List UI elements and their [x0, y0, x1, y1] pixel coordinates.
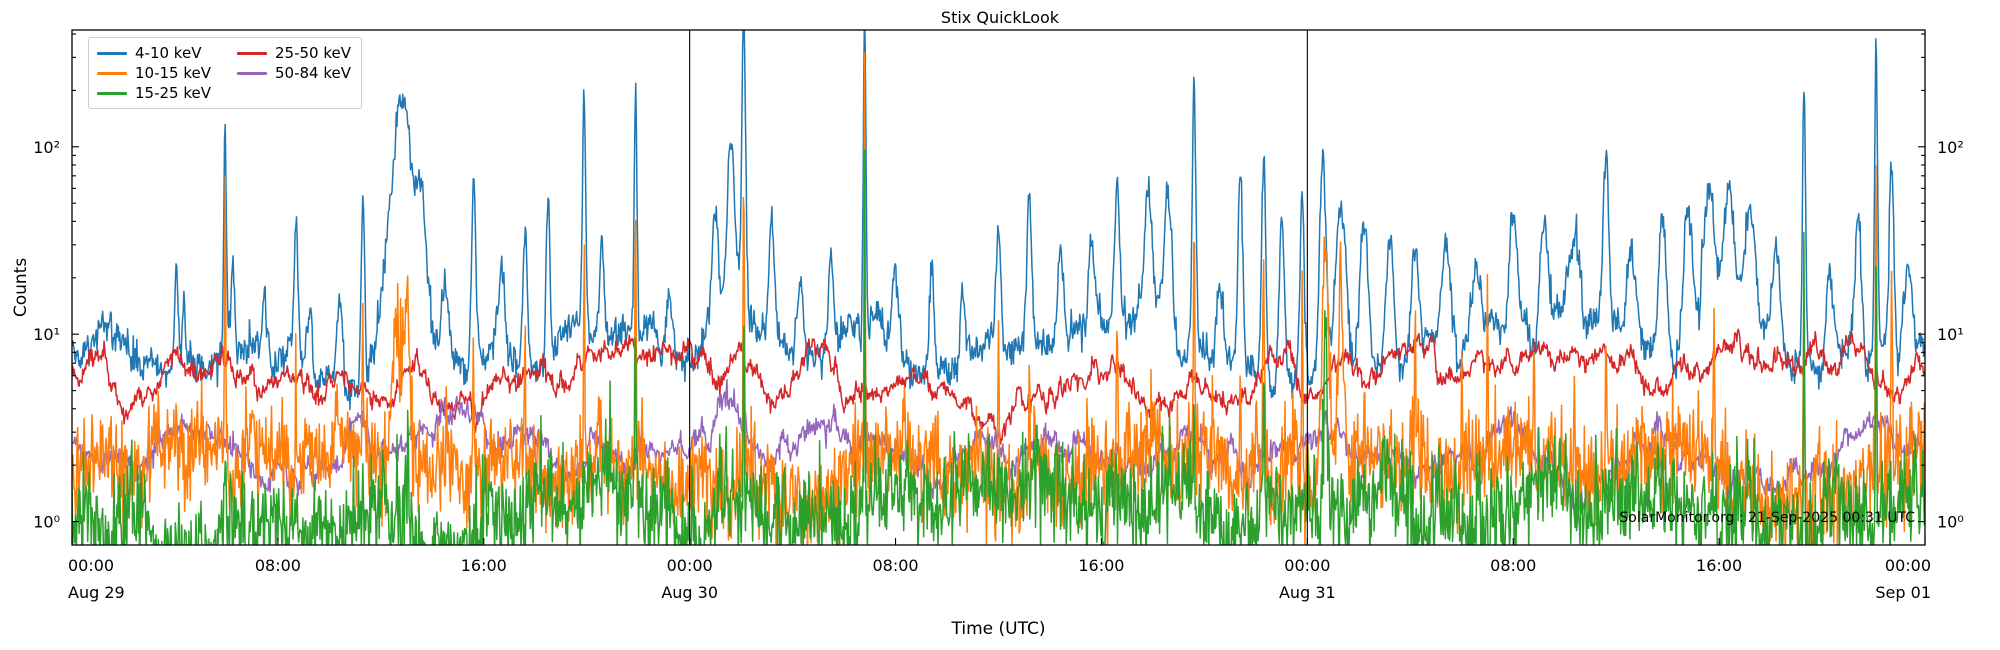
x-axis-group: 00:00Aug 2908:0016:0000:00Aug 3008:0016:…	[68, 538, 1931, 639]
legend-item-15-25-kev[interactable]: 15-25 keV	[97, 84, 211, 102]
legend-swatch-icon	[97, 52, 127, 55]
stix-quicklook-figure: Stix QuickLook 10⁰10⁰10¹10¹10²10²Counts0…	[0, 0, 2000, 650]
legend-item-50-84-kev[interactable]: 50-84 keV	[237, 64, 351, 82]
legend-label: 25-50 keV	[275, 44, 351, 62]
x-tick-label-time: 08:00	[1490, 556, 1536, 575]
legend-swatch-icon	[97, 92, 127, 95]
x-tick-label-date: Aug 31	[1279, 583, 1336, 602]
x-tick-label-time: 08:00	[255, 556, 301, 575]
legend-label: 15-25 keV	[135, 84, 211, 102]
x-tick-label-time: 16:00	[1696, 556, 1742, 575]
y-axis-label: Counts	[11, 258, 31, 317]
y-tick-label-right: 10⁰	[1937, 513, 1964, 532]
legend-label: 4-10 keV	[135, 44, 201, 62]
y-tick-label-left: 10¹	[33, 325, 60, 344]
x-tick-label-date: Sep 01	[1875, 583, 1931, 602]
x-tick-label-time: 08:00	[873, 556, 919, 575]
x-tick-label-time: 00:00	[667, 556, 713, 575]
x-tick-label-time: 00:00	[68, 556, 114, 575]
legend: 4-10 keV25-50 keV10-15 keV50-84 keV15-25…	[88, 37, 362, 109]
legend-item-4-10-kev[interactable]: 4-10 keV	[97, 44, 211, 62]
x-tick-label-time: 16:00	[1078, 556, 1124, 575]
x-tick-label-time: 16:00	[461, 556, 507, 575]
legend-label: 10-15 keV	[135, 64, 211, 82]
y-tick-label-right: 10²	[1937, 138, 1964, 157]
legend-item-10-15-kev[interactable]: 10-15 keV	[97, 64, 211, 82]
y-tick-label-left: 10²	[33, 138, 60, 157]
x-tick-label-time: 00:00	[1885, 556, 1931, 575]
legend-label: 50-84 keV	[275, 64, 351, 82]
x-tick-label-date: Aug 30	[661, 583, 718, 602]
x-axis-label: Time (UTC)	[951, 619, 1046, 639]
x-tick-label-date: Aug 29	[68, 583, 125, 602]
legend-swatch-icon	[97, 72, 127, 75]
y-tick-label-right: 10¹	[1937, 325, 1964, 344]
legend-swatch-icon	[237, 52, 267, 55]
legend-swatch-icon	[237, 72, 267, 75]
credit-text: SolarMonitor.org : 21-Sep-2025 00:31 UTC	[1619, 510, 1915, 526]
y-tick-label-left: 10⁰	[33, 513, 60, 532]
legend-item-25-50-kev[interactable]: 25-50 keV	[237, 44, 351, 62]
x-tick-label-time: 00:00	[1284, 556, 1330, 575]
